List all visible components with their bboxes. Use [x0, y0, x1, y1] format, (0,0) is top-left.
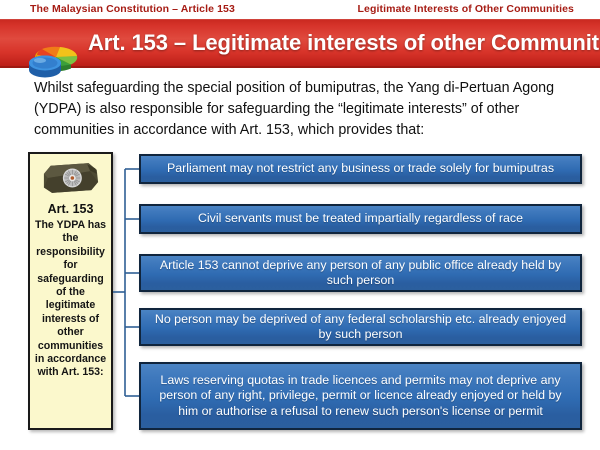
provision-box[interactable]: No person may be deprived of any federal…	[139, 308, 582, 346]
page-title: Art. 153 – Legitimate interests of other…	[88, 30, 600, 56]
left-callout-text: The YDPA has the responsibility for safe…	[32, 219, 109, 380]
provision-text: No person may be deprived of any federal…	[148, 312, 573, 343]
provision-text: Civil servants must be treated impartial…	[198, 211, 523, 227]
pie-chart-3d-icon	[25, 42, 83, 82]
intro-paragraph: Whilst safeguarding the special position…	[34, 78, 578, 141]
provision-box[interactable]: Parliament may not restrict any business…	[139, 154, 582, 184]
provision-text: Laws reserving quotas in trade licences …	[148, 373, 573, 420]
header-right-title: Legitimate Interests of Other Communitie…	[358, 3, 574, 15]
slide-header-strip: The Malaysian Constitution – Article 153…	[0, 0, 600, 19]
provision-box[interactable]: Laws reserving quotas in trade licences …	[139, 362, 582, 430]
header-left-title: The Malaysian Constitution – Article 153	[30, 3, 235, 15]
left-callout-box: Art. 153 The YDPA has the responsibility…	[28, 152, 113, 430]
provision-box[interactable]: Article 153 cannot deprive any person of…	[139, 254, 582, 292]
slide-title-bar: Art. 153 – Legitimate interests of other…	[0, 19, 600, 68]
left-callout-title: Art. 153	[32, 202, 109, 216]
songkok-hat-icon	[37, 159, 105, 201]
provision-text: Parliament may not restrict any business…	[167, 161, 554, 177]
article-153-diagram: Art. 153 The YDPA has the responsibility…	[0, 148, 600, 438]
provision-box[interactable]: Civil servants must be treated impartial…	[139, 204, 582, 234]
provision-text: Article 153 cannot deprive any person of…	[148, 258, 573, 289]
